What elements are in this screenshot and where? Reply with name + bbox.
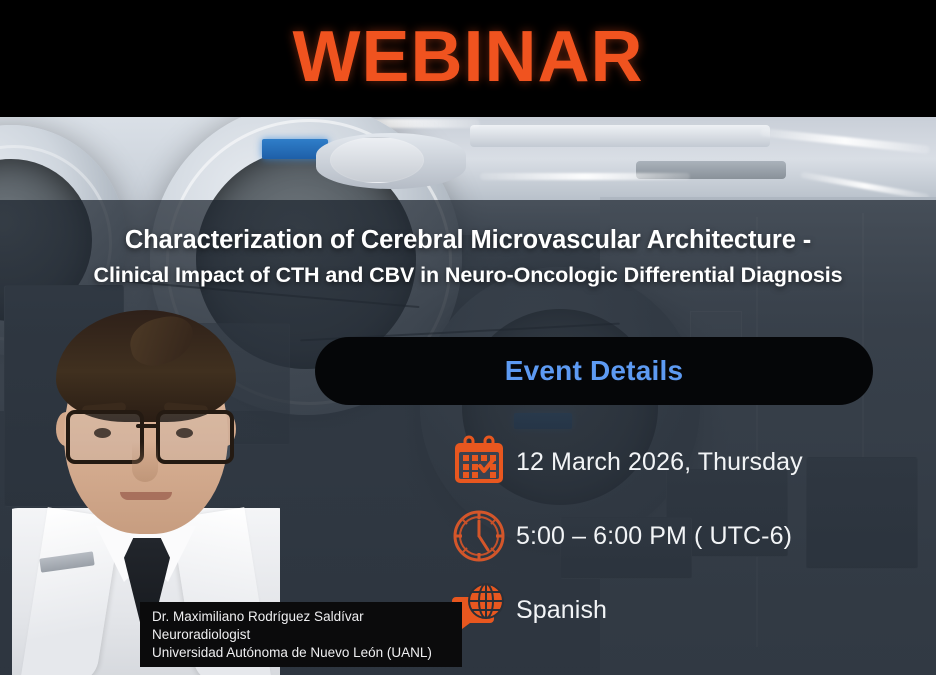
event-details-button[interactable]: Event Details (315, 337, 873, 405)
scanner-head-coil (330, 137, 424, 183)
ceiling-light-strip (480, 173, 690, 180)
webinar-banner-label: WEBINAR (0, 14, 936, 100)
event-details-list: 12 March 2026, Thursday (450, 425, 920, 647)
mouth (120, 492, 172, 500)
eyeglass-bridge (136, 424, 158, 428)
nose (132, 442, 158, 482)
event-details-label: Event Details (505, 355, 683, 387)
speaker-caption-box: Dr. Maximiliano Rodríguez Saldívar Neuro… (140, 602, 462, 667)
detail-row-language: Spanish (450, 573, 920, 647)
event-time-text: 5:00 – 6:00 PM ( UTC-6) (516, 522, 792, 551)
speaker-name: Dr. Maximiliano Rodríguez Saldívar (152, 608, 448, 626)
speaker-role: Neuroradiologist (152, 626, 448, 644)
header-band: WEBINAR (0, 0, 936, 117)
webinar-poster: WEBINAR Characterization of Cerebral Mic… (0, 0, 936, 675)
webinar-title-block: Characterization of Cerebral Microvascul… (0, 222, 936, 292)
detail-row-time: 5:00 – 6:00 PM ( UTC-6) (450, 499, 920, 573)
event-language-text: Spanish (516, 596, 607, 625)
webinar-title-line-1: Characterization of Cerebral Microvascul… (18, 222, 918, 258)
detail-row-date: 12 March 2026, Thursday (450, 425, 920, 499)
webinar-title-line-2: Clinical Impact of CTH and CBV in Neuro-… (18, 258, 918, 292)
event-date-text: 12 March 2026, Thursday (516, 448, 803, 477)
ceiling-panel (470, 125, 770, 147)
eyeglass-lens-right (156, 410, 234, 464)
speaker-affiliation: Universidad Autónoma de Nuevo León (UANL… (152, 644, 448, 662)
clock-icon (450, 506, 516, 566)
calendar-icon (450, 432, 516, 492)
